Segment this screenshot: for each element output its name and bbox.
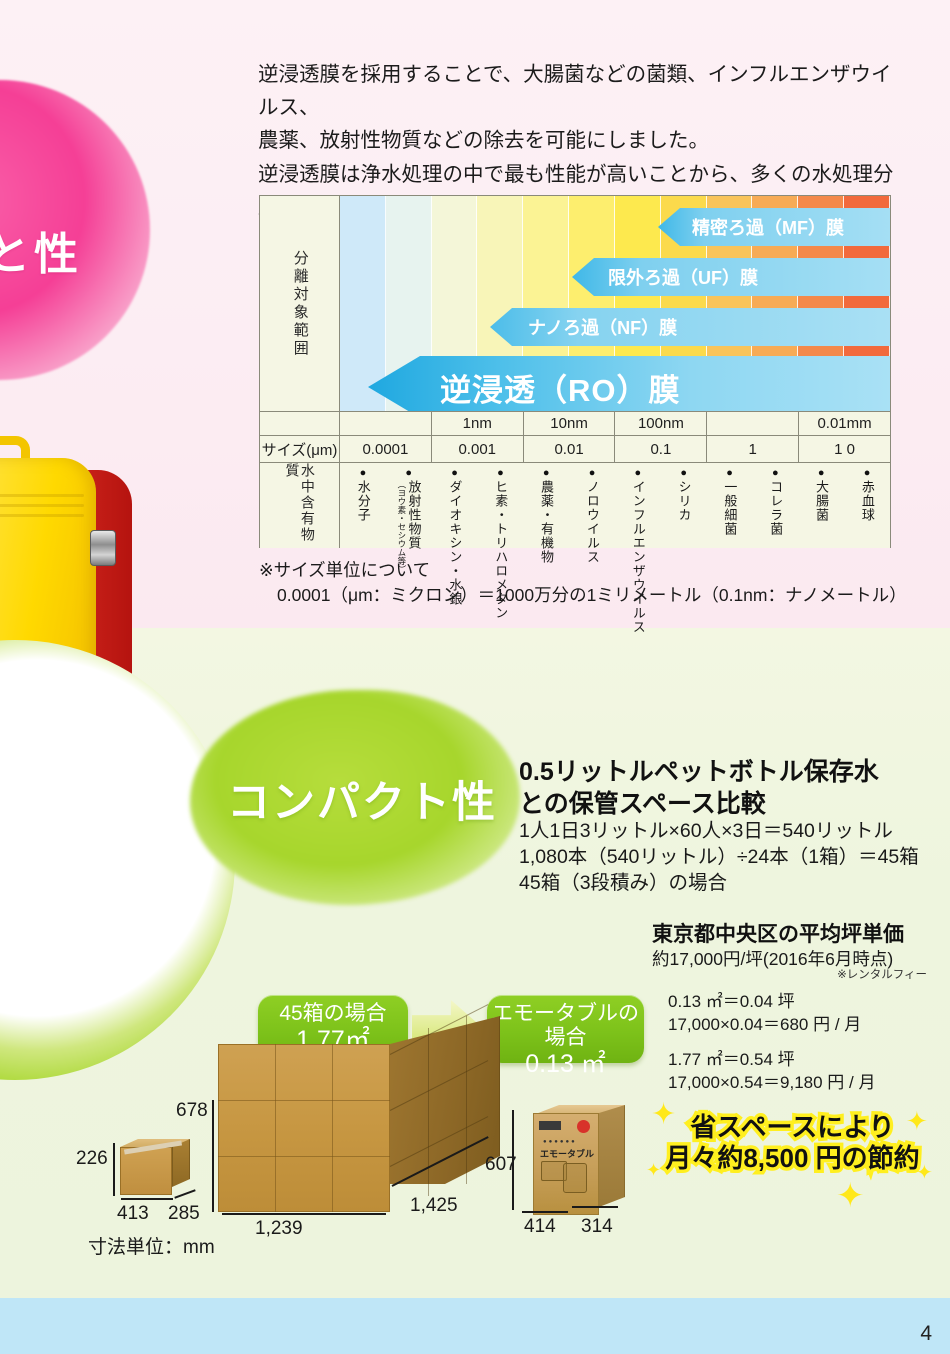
substance-item: ●赤血球 xyxy=(844,463,890,548)
membrane-arrow-uf: 限外ろ過（UF）膜 xyxy=(572,258,890,296)
single-carton-illustration xyxy=(120,1133,190,1195)
badge-right-line-2: 0.13 ㎡ xyxy=(487,1050,644,1079)
bullet-dot-icon: ● xyxy=(680,467,687,479)
substance-label: 放射性物質 xyxy=(407,480,421,550)
intro-line-1: 逆浸透膜を採用することで、大腸菌などの菌類、インフルエンザウイルス、 xyxy=(258,58,898,124)
substance-item: ●シリカ xyxy=(661,463,707,548)
calc-emotable-area: 0.13 ㎡＝0.04 坪 xyxy=(668,990,933,1013)
comparison-sub-line-3: 45箱（3段積み）の場合 xyxy=(519,870,929,896)
substance-label: 大腸菌 xyxy=(814,480,828,522)
substance-item: ●ダイオキシン・水銀 xyxy=(432,463,478,548)
dim-stack-width: 1,239 xyxy=(255,1218,303,1240)
comparison-sub-line-1: 1人1日3リットル×60人×3日＝540リットル xyxy=(519,818,929,844)
substance-item: ●一般細菌 xyxy=(707,463,753,548)
substances-row-label: 水中含有物質 xyxy=(260,463,340,548)
bullet-dot-icon: ● xyxy=(772,467,779,479)
red-seal-icon xyxy=(577,1120,590,1133)
substance-label: シリカ xyxy=(677,480,691,522)
bullet-dot-icon: ● xyxy=(451,467,458,479)
bullet-dot-icon: ● xyxy=(589,467,596,479)
dim-line-prod-width xyxy=(522,1211,568,1213)
size-value-3: 0.1 xyxy=(615,436,707,462)
carton-stack-illustration xyxy=(218,1016,500,1216)
chart-unit-tick-row: 1nm 10nm 100nm 0.01mm xyxy=(260,411,890,435)
bullet-dot-icon: ● xyxy=(818,467,825,479)
membrane-filtration-chart: 分離対象範囲 精密ろ過（MF）膜 限外ろ過（UF）膜 xyxy=(259,195,891,548)
unit-row-spacer xyxy=(260,412,340,435)
size-value-2: 0.01 xyxy=(524,436,616,462)
membrane-arrow-nf: ナノろ過（NF）膜 xyxy=(490,308,890,346)
chart-substances-row: 水中含有物質 ●水分子●放射性物質（ヨウ素・セシウム等）●ダイオキシン・水銀●ヒ… xyxy=(260,462,890,548)
comparison-subtext: 1人1日3リットル×60人×3日＝540リットル 1,080本（540リットル）… xyxy=(519,818,929,896)
substance-item: ●ヒ素・トリハロメタン xyxy=(477,463,523,548)
comparison-title-line-1: 0.5リットルペットボトル保存水 xyxy=(519,757,919,789)
dim-line-stack-width xyxy=(222,1213,386,1215)
dim-prod-height: 607 xyxy=(485,1154,517,1176)
dim-small-width: 413 xyxy=(117,1203,149,1225)
substance-label: 農薬・有機物 xyxy=(539,480,553,564)
dim-small-depth: 285 xyxy=(168,1203,200,1225)
calc-boxes-cost: 17,000×0.54＝9,180 円 / 月 xyxy=(668,1071,933,1094)
substances-list: ●水分子●放射性物質（ヨウ素・セシウム等）●ダイオキシン・水銀●ヒ素・トリハロメ… xyxy=(340,463,890,548)
size-value-5: 1 0 xyxy=(799,436,890,462)
dimension-unit-note: 寸法単位：mm xyxy=(88,1232,215,1259)
unit-tick-5: 0.01mm xyxy=(799,412,890,435)
bullet-dot-icon: ● xyxy=(543,467,550,479)
substance-label: 水分子 xyxy=(356,480,370,522)
page-number: 4 xyxy=(920,1322,932,1346)
substance-item: ●ノロウイルス xyxy=(569,463,615,548)
calc-emotable-cost: 17,000×0.04＝680 円 / 月 xyxy=(668,1013,933,1036)
badge-right-line-1: エモータブルの場合 xyxy=(487,1002,644,1050)
dim-stack-height: 678 xyxy=(176,1100,208,1122)
sparkle-icon-3: ✦ xyxy=(836,1176,865,1216)
bullet-dot-icon: ● xyxy=(726,467,733,479)
unit-tick-4 xyxy=(707,412,799,435)
bullet-dot-icon: ● xyxy=(497,467,504,479)
intro-line-3: 逆浸透膜は浄水処理の中で最も性能が高いことから、多くの水処理分 xyxy=(258,158,898,191)
cost-calculations: 0.13 ㎡＝0.04 坪 17,000×0.04＝680 円 / 月 1.77… xyxy=(668,990,933,1095)
bullet-dot-icon: ● xyxy=(360,467,367,479)
dim-stack-depth: 1,425 xyxy=(410,1195,458,1217)
calc-boxes-area: 1.77 ㎡＝0.54 坪 xyxy=(668,1048,933,1071)
comparison-sub-line-2: 1,080本（540リットル）÷24本（1箱）＝45箱 xyxy=(519,844,929,870)
substance-item: ●コレラ菌 xyxy=(752,463,798,548)
bullet-dot-icon: ● xyxy=(635,467,642,479)
dim-small-height: 226 xyxy=(76,1148,108,1170)
substance-label: インフルエンザウイルス xyxy=(631,480,645,634)
dim-prod-width: 414 xyxy=(524,1216,556,1238)
size-value-0: 0.0001 xyxy=(340,436,432,462)
dim-line-small-width xyxy=(121,1198,173,1200)
dim-line-small-height xyxy=(113,1143,115,1196)
unit-tick-3: 100nm xyxy=(615,412,707,435)
dim-line-prod-depth xyxy=(572,1206,618,1208)
substance-label: 赤血球 xyxy=(860,480,874,522)
footnote-line-2: 0.0001（μm：ミクロン）＝1000万分の1ミリメートル（0.1nm：ナノメ… xyxy=(259,583,899,608)
size-value-1: 0.001 xyxy=(432,436,524,462)
size-row-label: サイズ(μm) xyxy=(260,436,340,462)
badge-emotable: エモータブルの場合 0.13 ㎡ xyxy=(487,995,644,1063)
savings-line-1: 省スペースにより xyxy=(660,1112,925,1143)
safety-circle-label: と性 xyxy=(0,218,146,282)
brochure-page: 4 と性 エモータブル 安全 タブル 逆浸透膜を採用することで、大腸菌などの菌類… xyxy=(0,0,950,1354)
substance-item: ●農薬・有機物 xyxy=(523,463,569,548)
chart-plot-area: 精密ろ過（MF）膜 限外ろ過（UF）膜 ナノろ過（NF）膜 逆浸透（RO）膜 xyxy=(340,196,890,411)
rental-fee-note: ※レンタルフィー xyxy=(652,966,927,982)
comparison-title-line-2: との保管スペース比較 xyxy=(519,789,919,821)
price-heading: 東京都中央区の平均坪単価 xyxy=(652,918,927,948)
intro-line-2: 農薬、放射性物質などの除去を可能にしました。 xyxy=(258,124,898,157)
size-unit-footnote: ※サイズ単位について 0.0001（μm：ミクロン）＝1000万分の1ミリメート… xyxy=(259,558,899,609)
substance-item: ●水分子 xyxy=(340,463,386,548)
bullet-dot-icon: ● xyxy=(864,467,871,479)
bullet-dot-icon: ● xyxy=(405,467,412,479)
chart-size-row: サイズ(μm) 0.0001 0.001 0.01 0.1 1 1 0 xyxy=(260,435,890,462)
unit-tick-2: 10nm xyxy=(524,412,616,435)
substance-label: コレラ菌 xyxy=(769,480,783,536)
substance-item: ●インフルエンザウイルス xyxy=(615,463,661,548)
suitcase-latch-top xyxy=(90,530,116,566)
footer-band xyxy=(0,1298,950,1354)
substance-label: 一般細菌 xyxy=(723,480,737,536)
footnote-line-1: ※サイズ単位について xyxy=(259,558,899,583)
size-value-4: 1 xyxy=(707,436,799,462)
membrane-arrow-ro: 逆浸透（RO）膜 xyxy=(368,356,890,411)
comparison-title: 0.5リットルペットボトル保存水 との保管スペース比較 xyxy=(519,757,919,820)
unit-tick-1: 1nm xyxy=(432,412,524,435)
membrane-arrow-mf: 精密ろ過（MF）膜 xyxy=(658,208,890,246)
substance-item: ●放射性物質（ヨウ素・セシウム等） xyxy=(386,463,432,548)
dim-prod-depth: 314 xyxy=(581,1216,613,1238)
unit-tick-0 xyxy=(340,412,432,435)
substance-label: ノロウイルス xyxy=(585,480,599,564)
substance-item: ●大腸菌 xyxy=(798,463,844,548)
savings-line-2: 月々約8,500 円の節約 xyxy=(660,1143,925,1174)
dim-line-stack-height xyxy=(212,1100,214,1212)
compact-heading-label: コンパクト性 xyxy=(222,768,502,830)
emotable-box-illustration: ●●●●●● エモータブル xyxy=(533,1103,625,1215)
chart-range-row-label: 分離対象範囲 xyxy=(260,196,340,411)
sparkle-icon-5: ✦ xyxy=(646,1160,661,1181)
savings-callout: 省スペースにより 月々約8,500 円の節約 xyxy=(660,1112,925,1173)
